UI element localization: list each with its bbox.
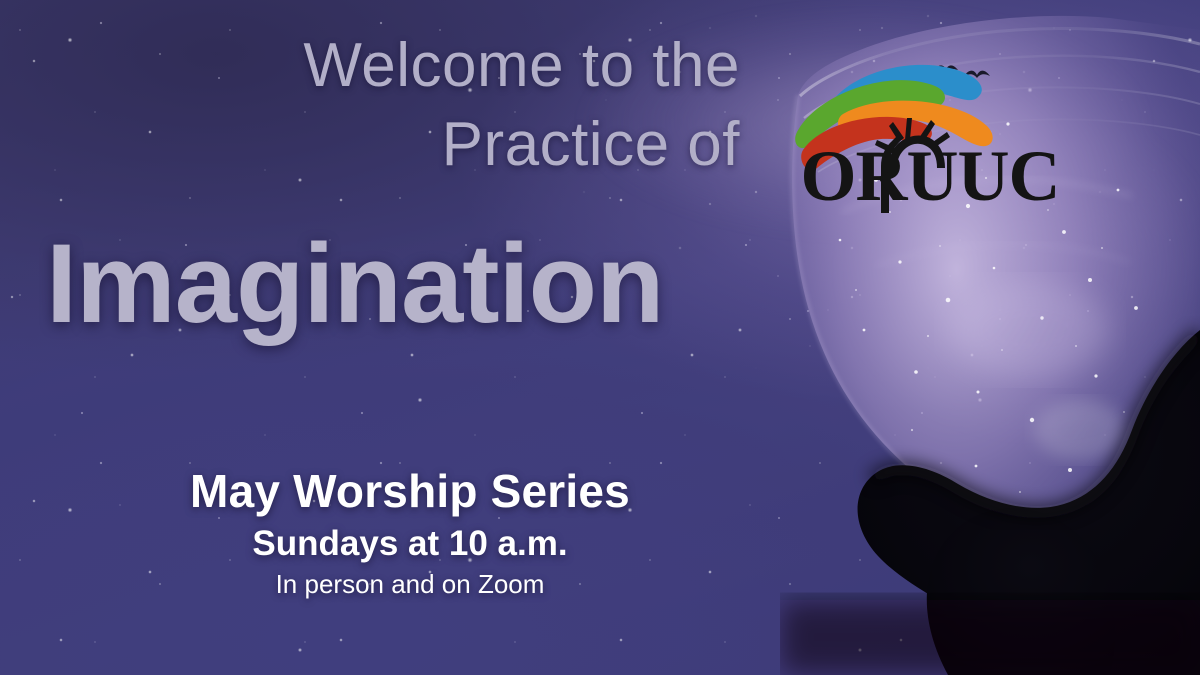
series-time: Sundays at 10 a.m.	[0, 524, 820, 564]
logo-wordmark: ORUUC	[785, 140, 1075, 212]
headline: Welcome to the Practice of	[0, 26, 740, 185]
series-mode: In person and on Zoom	[0, 570, 820, 600]
headline-line-1: Welcome to the	[0, 26, 740, 105]
series-title: May Worship Series	[0, 466, 820, 518]
oruuc-logo[interactable]: ORUUC	[785, 48, 1075, 213]
worship-slide: Welcome to the Practice of Imagination M…	[0, 0, 1200, 675]
page-title: Imagination	[46, 228, 826, 340]
headline-line-2: Practice of	[0, 105, 740, 184]
series-info: May Worship Series Sundays at 10 a.m. In…	[0, 466, 820, 600]
